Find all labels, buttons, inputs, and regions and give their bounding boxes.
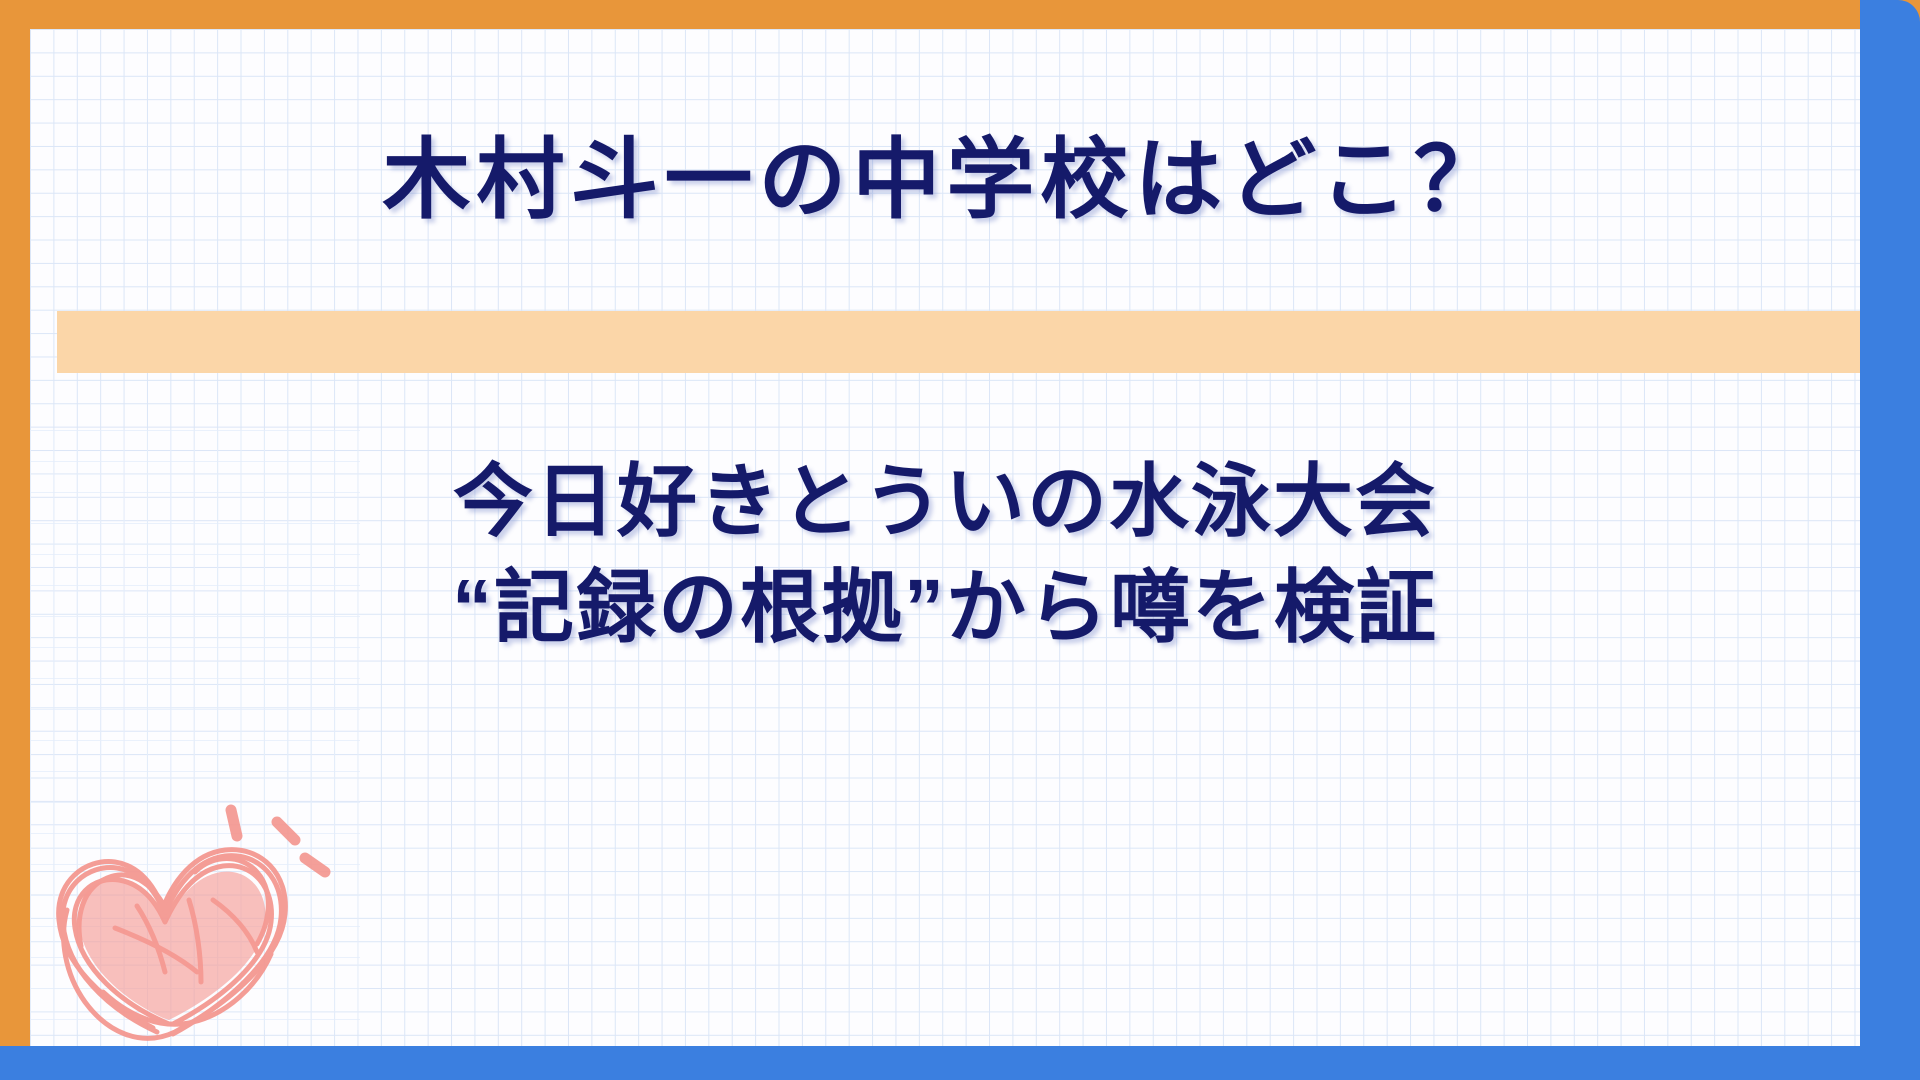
subtitle-line-2: “記録の根拠”から噂を検証 [30, 555, 1860, 661]
frame-border-right-blue [1860, 0, 1920, 1080]
page-title: 木村斗一の中学校はどこ？ [30, 134, 1860, 226]
slide-canvas: 木村斗一の中学校はどこ？ 今日好きとういの水泳大会 “記録の根拠”から噂を検証 [0, 0, 1920, 1080]
hand-drawn-heart-icon [45, 796, 335, 1046]
subtitle-line-1: 今日好きとういの水泳大会 [30, 449, 1860, 555]
slide-content: 木村斗一の中学校はどこ？ 今日好きとういの水泳大会 “記録の根拠”から噂を検証 [30, 29, 1860, 1046]
subtitle-block: 今日好きとういの水泳大会 “記録の根拠”から噂を検証 [30, 449, 1860, 662]
frame-border-bottom-blue [0, 1046, 1920, 1080]
orange-highlight-band [57, 311, 1860, 373]
